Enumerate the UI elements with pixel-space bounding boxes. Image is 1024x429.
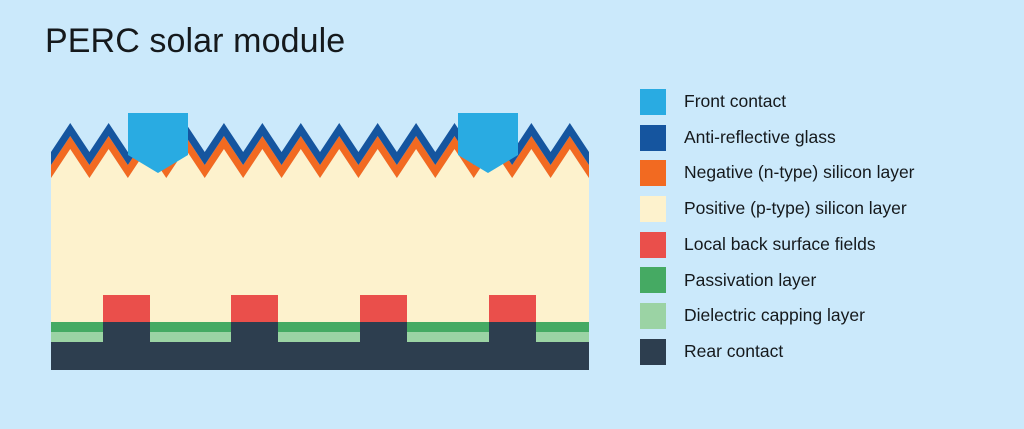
legend-swatch xyxy=(640,303,666,329)
legend-swatch xyxy=(640,339,666,365)
passivation-layer xyxy=(278,322,360,332)
legend: Front contactAnti-reflective glassNegati… xyxy=(640,84,1020,370)
local-back-surface-field xyxy=(489,295,536,322)
passivation-layer xyxy=(51,322,103,332)
legend-swatch xyxy=(640,125,666,151)
dielectric-capping-layer xyxy=(278,332,360,342)
legend-label: Front contact xyxy=(684,93,786,111)
rear-contact-finger xyxy=(231,322,278,342)
legend-item: Dielectric capping layer xyxy=(640,298,1020,334)
legend-item: Anti-reflective glass xyxy=(640,120,1020,156)
rear-contact-finger xyxy=(103,322,150,342)
rear-contact-base xyxy=(51,342,589,370)
local-back-surface-field xyxy=(231,295,278,322)
legend-swatch xyxy=(640,89,666,115)
legend-label: Negative (n-type) silicon layer xyxy=(684,164,915,182)
legend-item: Front contact xyxy=(640,84,1020,120)
local-back-surface-field xyxy=(360,295,407,322)
dielectric-capping-layer xyxy=(150,332,231,342)
legend-swatch xyxy=(640,196,666,222)
legend-swatch xyxy=(640,232,666,258)
perc-solar-module-infographic: PERC solar module Front contactAnti-refl… xyxy=(0,0,1024,429)
legend-label: Passivation layer xyxy=(684,272,816,290)
legend-label: Positive (p-type) silicon layer xyxy=(684,200,907,218)
passivation-layer xyxy=(536,322,589,332)
dielectric-capping-layer xyxy=(536,332,589,342)
local-back-surface-field xyxy=(103,295,150,322)
legend-swatch xyxy=(640,267,666,293)
passivation-layer xyxy=(407,322,489,332)
passivation-layer xyxy=(150,322,231,332)
legend-label: Rear contact xyxy=(684,343,783,361)
legend-swatch xyxy=(640,160,666,186)
legend-label: Dielectric capping layer xyxy=(684,307,865,325)
legend-label: Local back surface fields xyxy=(684,236,876,254)
rear-contact-finger xyxy=(360,322,407,342)
dielectric-capping-layer xyxy=(407,332,489,342)
dielectric-capping-layer xyxy=(51,332,103,342)
rear-contact-finger xyxy=(489,322,536,342)
legend-item: Passivation layer xyxy=(640,262,1020,298)
legend-item: Negative (n-type) silicon layer xyxy=(640,155,1020,191)
legend-label: Anti-reflective glass xyxy=(684,129,836,147)
perc-module-cross-section-diagram xyxy=(0,0,620,429)
legend-item: Local back surface fields xyxy=(640,227,1020,263)
legend-item: Rear contact xyxy=(640,334,1020,370)
legend-item: Positive (p-type) silicon layer xyxy=(640,191,1020,227)
